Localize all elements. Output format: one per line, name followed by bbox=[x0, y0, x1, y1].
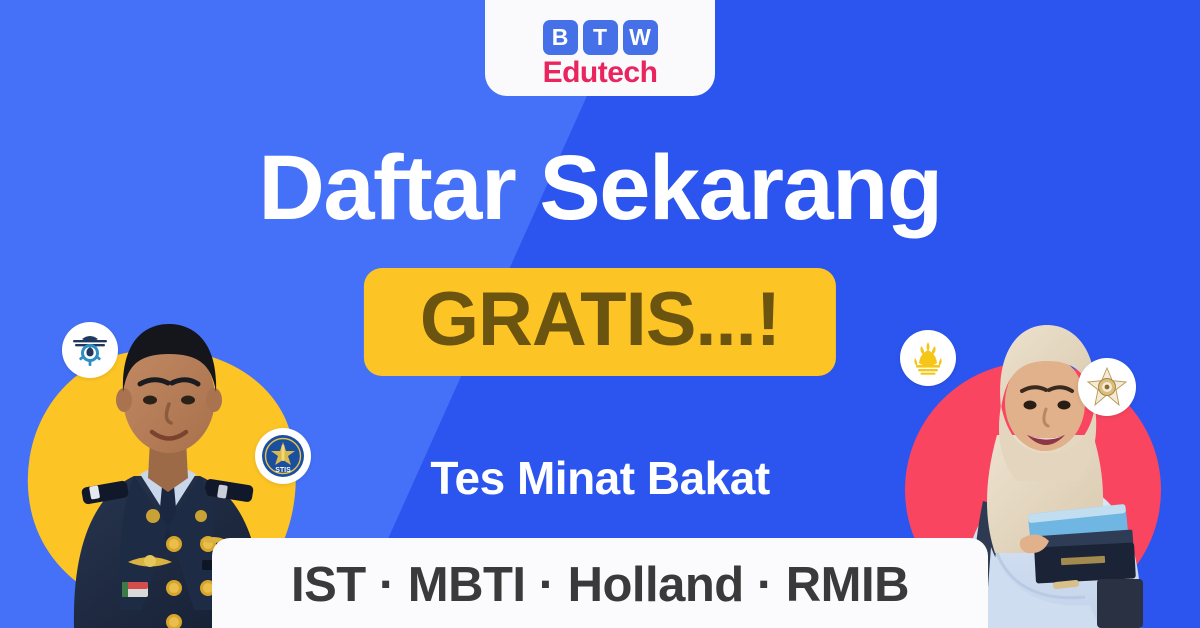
promo-banner: STIS bbox=[0, 0, 1200, 628]
subheadline: Tes Minat Bakat bbox=[0, 455, 1200, 501]
brand-wordmark: Edutech bbox=[543, 58, 658, 88]
poltek-winged-gear-emblem-icon bbox=[62, 322, 118, 378]
logo-tile-t: T bbox=[583, 20, 618, 55]
logo-tile-w: W bbox=[623, 20, 658, 55]
logo-tile-b: B bbox=[543, 20, 578, 55]
test-types-list: IST · MBTI · Holland · RMIB bbox=[291, 561, 909, 610]
ugm-star-emblem-icon bbox=[1078, 358, 1136, 416]
universitas-indonesia-makara-icon bbox=[900, 330, 956, 386]
stis-seal-icon: STIS bbox=[255, 428, 311, 484]
page-title: Daftar Sekarang bbox=[0, 142, 1200, 234]
brand-logo-tiles: B T W bbox=[543, 20, 658, 55]
svg-text:STIS: STIS bbox=[275, 467, 291, 474]
test-types-card: IST · MBTI · Holland · RMIB bbox=[212, 538, 988, 628]
brand-logo-card[interactable]: B T W Edutech bbox=[485, 0, 715, 96]
gratis-badge: GRATIS...! bbox=[364, 268, 836, 376]
